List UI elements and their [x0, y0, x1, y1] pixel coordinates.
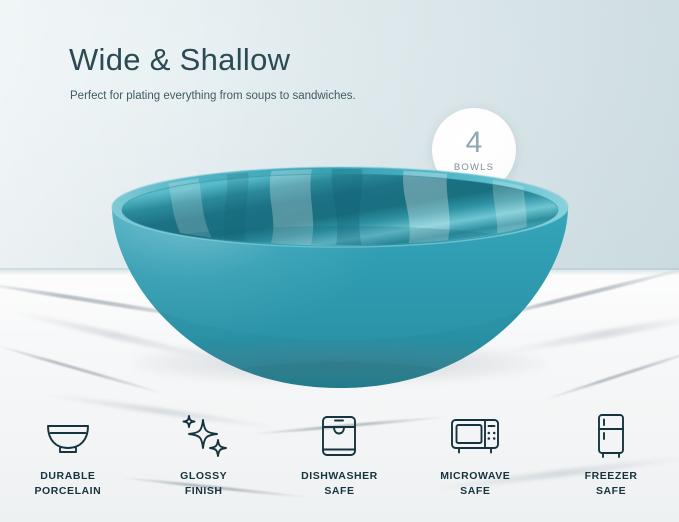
- feature-item-glossy-finish: GLOSSY FINISH: [136, 412, 272, 499]
- freezer-icon: [593, 412, 629, 460]
- dishwasher-icon: [317, 412, 361, 460]
- feature-label: DISHWASHER SAFE: [301, 469, 378, 499]
- feature-item-freezer-safe: FREEZER SAFE: [543, 412, 679, 499]
- feature-label: GLOSSY FINISH: [180, 469, 227, 499]
- feature-item-durable-porcelain: DURABLE PORCELAIN: [0, 412, 136, 499]
- feature-label: FREEZER SAFE: [585, 469, 638, 499]
- feature-item-microwave-safe: MICROWAVE SAFE: [407, 412, 543, 499]
- feature-list: DURABLE PORCELAIN GLOSSY FINISH: [0, 412, 679, 499]
- feature-label: DURABLE PORCELAIN: [35, 469, 102, 499]
- product-bowl: [105, 160, 575, 395]
- bowl-icon: [44, 412, 92, 460]
- page-subtitle: Perfect for plating everything from soup…: [70, 88, 370, 106]
- bowl-shadow: [133, 342, 545, 384]
- badge-count: 4: [466, 128, 483, 158]
- microwave-icon: [449, 412, 501, 460]
- sparkle-icon: [180, 412, 228, 460]
- product-feature-image: Wide & Shallow Perfect for plating every…: [0, 0, 679, 522]
- feature-item-dishwasher-safe: DISHWASHER SAFE: [272, 412, 408, 499]
- feature-label: MICROWAVE SAFE: [440, 469, 510, 499]
- page-title: Wide & Shallow: [69, 42, 290, 78]
